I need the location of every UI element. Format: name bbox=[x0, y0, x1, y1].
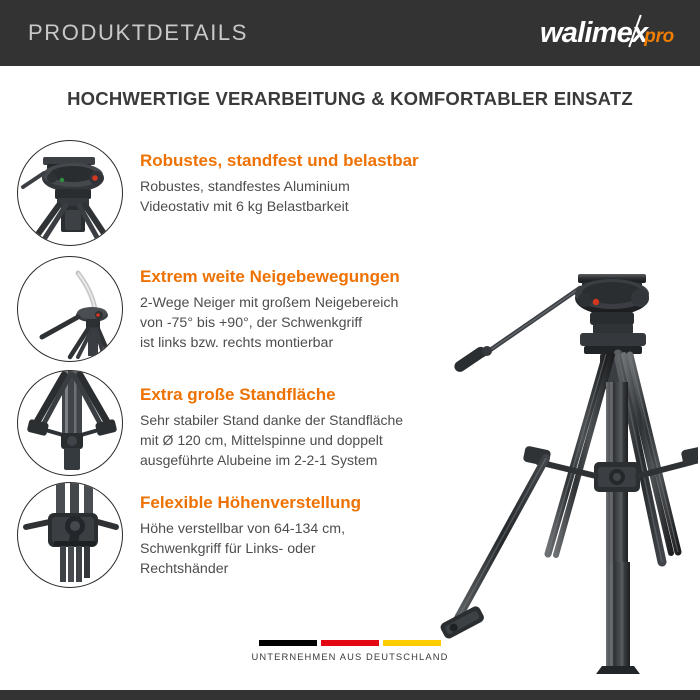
feature-thumbnail-wrap bbox=[0, 140, 140, 246]
feature-thumbnail-wrap bbox=[0, 482, 140, 588]
flag-bar-red bbox=[321, 640, 379, 646]
feature-title: Felexible Höhenverstellung bbox=[140, 492, 684, 514]
feature-thumbnail-wrap bbox=[0, 256, 140, 362]
feature-item: Extrem weite Neigebewegungen 2-Wege Neig… bbox=[0, 256, 700, 362]
section-headline: HOCHWERTIGE VERARBEITUNG & KOMFORTABLER … bbox=[0, 88, 700, 110]
page-title: PRODUKTDETAILS bbox=[28, 20, 248, 46]
feature-body: 2-Wege Neiger mit großem Neigebereich vo… bbox=[140, 293, 684, 353]
walimex-pro-logo: walimex pro bbox=[540, 19, 674, 48]
feature-title: Robustes, standfest und belastbar bbox=[140, 150, 684, 172]
footer-bar bbox=[0, 690, 700, 700]
feature-text: Robustes, standfest und belastbar Robust… bbox=[140, 140, 700, 217]
tilt-range-icon bbox=[17, 256, 123, 362]
page-header: PRODUKTDETAILS walimex pro bbox=[0, 0, 700, 66]
tripod-head-icon bbox=[17, 140, 123, 246]
tripod-legs-spreader-icon bbox=[17, 370, 123, 476]
feature-text: Felexible Höhenverstellung Höhe verstell… bbox=[140, 482, 700, 579]
made-in-germany-badge: UNTERNEHMEN AUS DEUTSCHLAND bbox=[0, 640, 700, 662]
flag-bar-black bbox=[259, 640, 317, 646]
feature-thumbnail-wrap bbox=[0, 370, 140, 476]
feature-list: Robustes, standfest und belastbar Robust… bbox=[0, 136, 700, 588]
feature-body: Höhe verstellbar von 64-134 cm, Schwenkg… bbox=[140, 519, 684, 579]
badge-label: UNTERNEHMEN AUS DEUTSCHLAND bbox=[252, 651, 449, 662]
feature-body: Sehr stabiler Stand danke der Standfläch… bbox=[140, 411, 684, 471]
feature-item: Felexible Höhenverstellung Höhe verstell… bbox=[0, 482, 700, 588]
feature-title: Extra große Standfläche bbox=[140, 384, 684, 406]
german-flag-icon bbox=[259, 640, 441, 646]
flag-bar-gold bbox=[383, 640, 441, 646]
feature-text: Extrem weite Neigebewegungen 2-Wege Neig… bbox=[140, 256, 700, 353]
height-clamp-icon bbox=[17, 482, 123, 588]
feature-text: Extra große Standfläche Sehr stabiler St… bbox=[140, 370, 700, 470]
feature-body: Robustes, standfestes Aluminium Videosta… bbox=[140, 177, 684, 217]
feature-title: Extrem weite Neigebewegungen bbox=[140, 266, 684, 288]
feature-item: Extra große Standfläche Sehr stabiler St… bbox=[0, 370, 700, 476]
feature-item: Robustes, standfest und belastbar Robust… bbox=[0, 140, 700, 246]
logo-pro-text: pro bbox=[644, 27, 674, 46]
product-details-page: PRODUKTDETAILS walimex pro HOCHWERTIGE V… bbox=[0, 0, 700, 700]
